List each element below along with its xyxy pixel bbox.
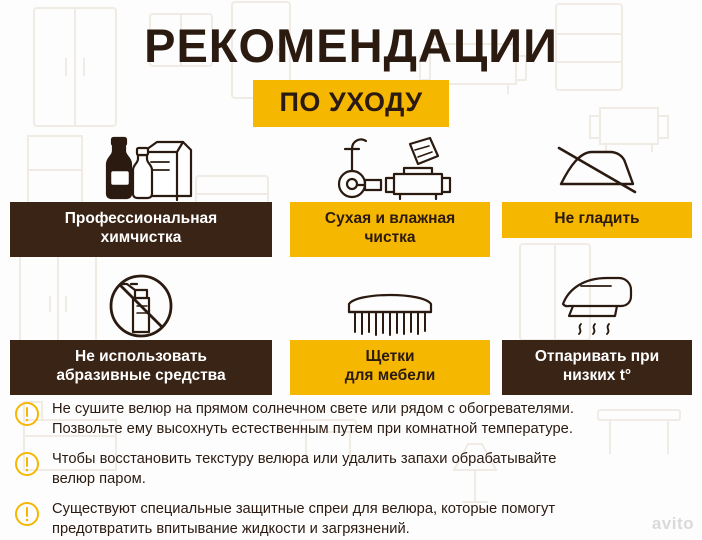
care-card-noabrasive: Не использовать абразивные средства (10, 268, 272, 395)
card-label-line2: чистка (296, 229, 484, 248)
furniture-brush-icon (335, 278, 445, 340)
warning-icon (14, 451, 40, 477)
card-label-line1: Не использовать (16, 348, 266, 367)
card-label-line1: Сухая и влажная (296, 210, 484, 229)
care-card-steam: Отпаривать при низких t° (502, 268, 692, 395)
vacuum-cleaner-icon (320, 130, 460, 202)
page-subtitle-container: ПО УХОДУ (0, 80, 702, 127)
card-label-line1: Профессиональная (16, 210, 266, 229)
avito-watermark: avito (652, 514, 694, 534)
no-abrasive-icon (101, 268, 181, 340)
note-line1: Чтобы восстановить текстуру велюра или у… (52, 450, 556, 470)
care-instructions-poster: РЕКОМЕНДАЦИИ ПО УХОДУ Профессиональн (0, 0, 702, 540)
card-icon-box (502, 130, 692, 202)
card-label-line1: Щетки (296, 348, 484, 367)
card-label-noabrasive: Не использовать абразивные средства (10, 340, 272, 395)
care-card-drycleaning: Профессиональная химчистка (10, 130, 272, 257)
card-label-line2: низких t° (508, 367, 686, 386)
note-text: Не сушите велюр на прямом солнечном свет… (52, 400, 574, 439)
care-card-cleaning: Сухая и влажная чистка (290, 130, 490, 257)
note-line2: велюр паром. (52, 470, 556, 490)
warning-icon (14, 501, 40, 527)
no-iron-icon (551, 136, 643, 202)
page-subtitle: ПО УХОДУ (253, 80, 448, 127)
note-text: Существуют специальные защитные спреи дл… (52, 500, 555, 539)
note-text: Чтобы восстановить текстуру велюра или у… (52, 450, 556, 489)
care-card-brushes: Щетки для мебели (290, 268, 490, 395)
card-label-line2: абразивные средства (16, 367, 266, 386)
card-label-line1: Не гладить (508, 210, 686, 229)
detergent-bottles-icon (81, 130, 201, 202)
card-icon-box (290, 268, 490, 340)
page-title: РЕКОМЕНДАЦИИ (0, 18, 702, 73)
card-label-noiron: Не гладить (502, 202, 692, 238)
card-label-cleaning: Сухая и влажная чистка (290, 202, 490, 257)
note-line2: Позвольте ему высохнуть естественным пут… (52, 420, 574, 440)
note-line2: предотвратить впитывание жидкости и загр… (52, 520, 555, 540)
note-item: Чтобы восстановить текстуру велюра или у… (14, 450, 690, 489)
card-icon-box (502, 268, 692, 340)
warning-icon (14, 401, 40, 427)
note-line1: Существуют специальные защитные спреи дл… (52, 500, 555, 520)
card-label-drycleaning: Профессиональная химчистка (10, 202, 272, 257)
care-card-noiron: Не гладить (502, 130, 692, 238)
steamer-icon (545, 268, 649, 340)
note-line1: Не сушите велюр на прямом солнечном свет… (52, 400, 574, 420)
card-label-brushes: Щетки для мебели (290, 340, 490, 395)
card-label-line2: химчистка (16, 229, 266, 248)
card-label-line1: Отпаривать при (508, 348, 686, 367)
note-item: Не сушите велюр на прямом солнечном свет… (14, 400, 690, 439)
card-icon-box (10, 130, 272, 202)
card-icon-box (10, 268, 272, 340)
card-label-line2: для мебели (296, 367, 484, 386)
card-icon-box (290, 130, 490, 202)
note-item: Существуют специальные защитные спреи дл… (14, 500, 690, 539)
notes-list: Не сушите велюр на прямом солнечном свет… (14, 400, 690, 540)
card-label-steam: Отпаривать при низких t° (502, 340, 692, 395)
